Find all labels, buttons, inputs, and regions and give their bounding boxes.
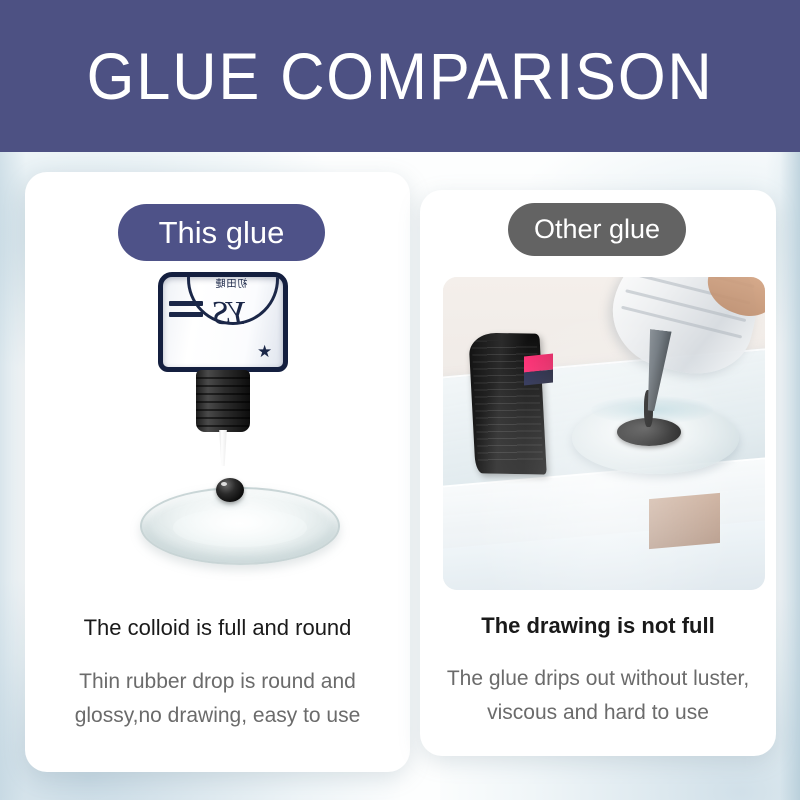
other-glue-photo [443,277,765,590]
header-banner: GLUE COMPARISON [0,0,800,152]
badge-other-glue-label: Other glue [534,216,660,243]
caption-body-this-glue: Thin rubber drop is round and glossy,no … [40,665,395,733]
bottle-nozzle [196,370,250,432]
glue-drop [216,478,244,502]
bottle-label-stripes [169,301,203,323]
glass-plate-illustration [140,487,340,565]
caption-title-other-glue: The drawing is not full [420,613,776,639]
badge-this-glue[interactable]: This glue [118,204,325,261]
caption-body-other-glue: The glue drips out without luster, visco… [430,662,766,730]
star-icon: ★ [257,343,274,360]
bottle-tip [217,430,229,466]
photo-glow-overlay [443,277,765,590]
page-title: GLUE COMPARISON [86,43,713,109]
glass-plate-highlight [173,508,306,546]
bottle-label-subtext: 初田睫 [196,275,266,290]
caption-title-this-glue: The colloid is full and round [25,615,410,641]
badge-this-glue-label: This glue [159,217,285,248]
comparison-infographic: GLUE COMPARISON This glue Other glue 初田睫… [0,0,800,800]
bottle-body: 初田睫 YS ★ [158,272,288,372]
glue-bottle-illustration: 初田睫 YS ★ [148,272,298,482]
background-edge-left [0,150,26,800]
badge-other-glue[interactable]: Other glue [508,203,686,256]
bottle-brand-monogram: YS [203,293,259,335]
